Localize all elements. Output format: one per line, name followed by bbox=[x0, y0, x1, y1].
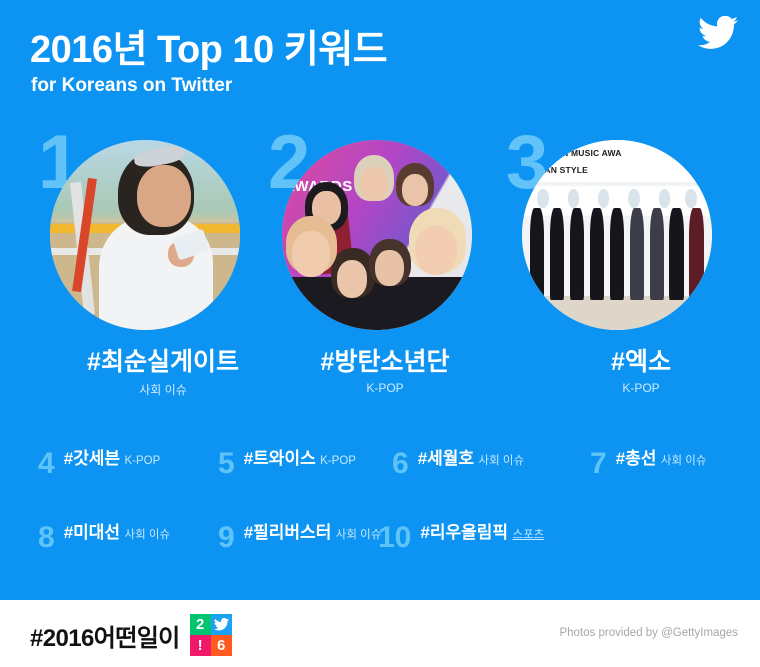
category-3: K-POP bbox=[516, 381, 760, 395]
category-2: K-POP bbox=[260, 381, 510, 395]
rank-item-10[interactable]: 10 #리우올림픽 스포츠 bbox=[378, 522, 544, 551]
rank-number-4: 4 bbox=[38, 450, 55, 479]
rank-number-7: 7 bbox=[590, 450, 607, 479]
rank-item-9[interactable]: 9 #필리버스터 사회 이슈 bbox=[218, 522, 381, 551]
keyword-5: #트와이스 bbox=[244, 449, 316, 468]
keyword-4: #갓세븐 bbox=[64, 449, 120, 468]
category-7: 사회 이슈 bbox=[661, 455, 707, 467]
rank-number-6: 6 bbox=[392, 450, 409, 479]
twitter-bird-icon-footer bbox=[211, 614, 232, 635]
keyword-7: #총선 bbox=[616, 449, 657, 468]
category-1: 사회 이슈 bbox=[38, 381, 288, 398]
category-5: K-POP bbox=[320, 455, 356, 467]
category-9: 사회 이슈 bbox=[336, 529, 382, 541]
rank-item-7[interactable]: 7 #총선 사회 이슈 bbox=[590, 448, 706, 477]
footer-brand[interactable]: #2016어떤일이 2 ! 6 bbox=[30, 614, 232, 656]
category-8: 사회 이슈 bbox=[125, 529, 171, 541]
logo-cell-2: 2 bbox=[190, 614, 211, 635]
rank-number-8: 8 bbox=[38, 524, 55, 553]
rank-list-section: 4 #갓세븐 K-POP 5 #트와이스 K-POP 6 #세월호 사회 이슈 … bbox=[0, 440, 760, 590]
brand-hashtag: #2016어떤일이 bbox=[30, 618, 180, 653]
rank-item-8[interactable]: 8 #미대선 사회 이슈 bbox=[38, 522, 170, 551]
logo-cell-exclamation: ! bbox=[190, 635, 211, 656]
top-item-2-label: #방탄소년단 K-POP bbox=[260, 348, 510, 395]
category-10[interactable]: 스포츠 bbox=[512, 529, 544, 541]
page-subtitle: for Koreans on Twitter bbox=[31, 75, 232, 97]
top-three-section: 1 #최순실게이트 사회 bbox=[0, 130, 760, 410]
keyword-1: #최순실게이트 bbox=[38, 348, 288, 377]
rank-number-10: 10 bbox=[378, 524, 411, 553]
category-4: K-POP bbox=[125, 455, 161, 467]
top-item-1-label: #최순실게이트 사회 이슈 bbox=[38, 348, 288, 398]
keyword-3: #엑소 bbox=[516, 348, 760, 377]
rank-item-5[interactable]: 5 #트와이스 K-POP bbox=[218, 448, 356, 477]
photo-credit: Photos provided by @GettyImages bbox=[559, 627, 738, 639]
photo-1 bbox=[50, 140, 240, 330]
campaign-logo: 2 ! 6 bbox=[190, 614, 232, 656]
twitter-bird-icon bbox=[698, 16, 738, 50]
keyword-6: #세월호 bbox=[418, 449, 474, 468]
photo-2-text-1: IC bbox=[290, 159, 306, 176]
logo-cell-6: 6 bbox=[211, 635, 232, 656]
rank-item-4[interactable]: 4 #갓세븐 K-POP bbox=[38, 448, 160, 477]
top-item-3[interactable]: 3 ASIAN MUSIC AWA ASIAN STYLE bbox=[494, 130, 744, 410]
top-item-1[interactable]: 1 #최순실게이트 사회 bbox=[30, 130, 280, 410]
top-item-3-label: #엑소 K-POP bbox=[516, 348, 760, 395]
keyword-10: #리우올림픽 bbox=[420, 523, 508, 542]
rank-item-6[interactable]: 6 #세월호 사회 이슈 bbox=[392, 448, 524, 477]
infographic-root: 2016년 Top 10 키워드 for Koreans on Twitter … bbox=[0, 0, 760, 667]
rank-number-9: 9 bbox=[218, 524, 235, 553]
rank-number-5: 5 bbox=[218, 450, 235, 479]
photo-3-text-1: ASIAN MUSIC AWA bbox=[541, 148, 622, 158]
footer: #2016어떤일이 2 ! 6 Photos provided by @Gett… bbox=[0, 600, 760, 667]
header: 2016년 Top 10 키워드 for Koreans on Twitter bbox=[0, 0, 760, 120]
keyword-9: #필리버스터 bbox=[244, 523, 332, 542]
photo-2: IC AWARDS bbox=[282, 140, 472, 330]
category-6: 사회 이슈 bbox=[479, 455, 525, 467]
photo-3: ASIAN MUSIC AWA ASIAN STYLE bbox=[522, 140, 712, 330]
keyword-2: #방탄소년단 bbox=[260, 348, 510, 377]
keyword-8: #미대선 bbox=[64, 523, 120, 542]
photo-3-text-2: ASIAN STYLE bbox=[530, 165, 588, 175]
top-item-2[interactable]: 2 IC AWARDS #방탄소년단 bbox=[260, 130, 510, 410]
page-title: 2016년 Top 10 키워드 bbox=[30, 18, 387, 73]
